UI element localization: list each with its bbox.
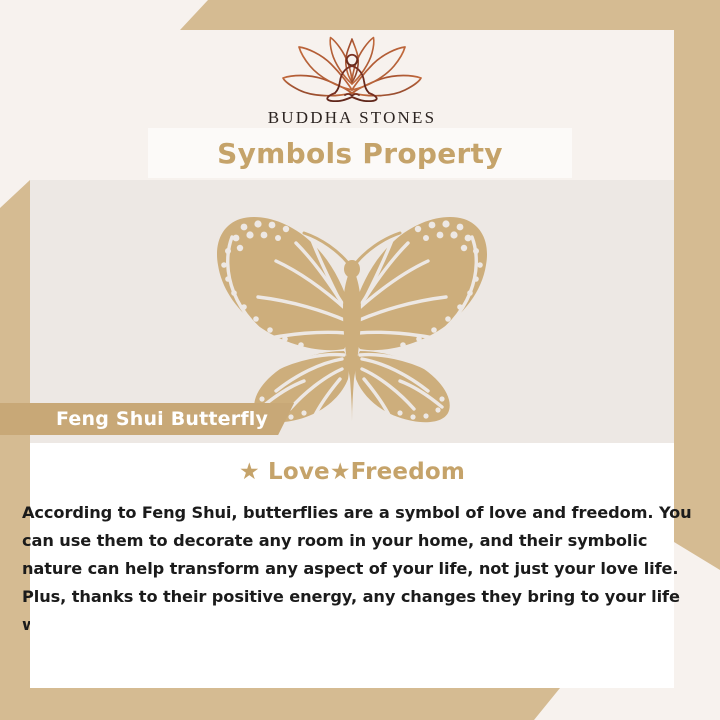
poster-inner: BUDDHA STONES Symbols Property [30, 30, 674, 688]
decorative-band-right [674, 30, 720, 570]
butterfly-icon [192, 211, 512, 426]
brand-name: BUDDHA STONES [268, 108, 437, 128]
footer-filler [30, 608, 674, 688]
page-title: Symbols Property [217, 137, 503, 170]
poster-root: BUDDHA STONES Symbols Property [0, 0, 720, 720]
title-band: Symbols Property [148, 128, 572, 178]
decorative-band-bottom [0, 688, 560, 720]
decorative-band-top [180, 0, 720, 30]
figure-panel: Feng Shui Butterfly [30, 180, 674, 443]
figure-ribbon-label: Feng Shui Butterfly [0, 403, 294, 435]
lotus-meditation-icon [277, 34, 427, 102]
decorative-band-left [0, 180, 30, 720]
content-subtitle: ★ Love★Freedom [30, 459, 674, 485]
